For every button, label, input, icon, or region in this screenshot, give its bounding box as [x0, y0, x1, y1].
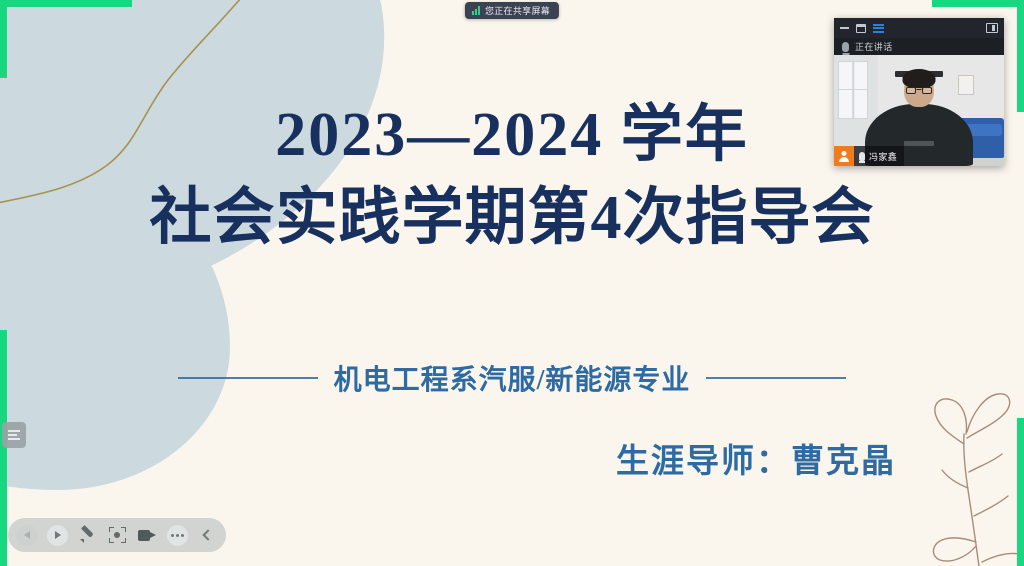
screen-share-view: 2023—2024 学年 社会实践学期第4次指导会 机电工程系汽服/新能源专业 …	[0, 0, 1024, 566]
participants-list-button[interactable]	[873, 24, 884, 33]
speaking-status-text: 正在讲话	[855, 40, 893, 53]
next-slide-button[interactable]	[46, 524, 68, 546]
layout-toggle-button[interactable]	[986, 23, 998, 33]
video-call-panel[interactable]: 正在讲话	[834, 18, 1004, 166]
video-feed[interactable]: 冯家鑫	[834, 55, 1004, 166]
triangle-right-icon	[47, 525, 68, 546]
participant-name: 冯家鑫	[869, 150, 897, 163]
minimize-button[interactable]	[840, 27, 849, 29]
more-button[interactable]	[166, 524, 188, 546]
spotlight-button[interactable]	[106, 524, 128, 546]
slide-presenter: 生涯导师：曹克晶	[616, 434, 896, 482]
annotate-button[interactable]	[76, 524, 98, 546]
restore-window-button[interactable]	[856, 24, 866, 33]
video-panel-titlebar[interactable]	[834, 18, 1004, 38]
window-shape	[838, 61, 868, 119]
list-menu-icon	[8, 430, 20, 440]
record-button[interactable]	[136, 524, 158, 546]
screen-share-banner-text: 您正在共享屏幕	[485, 4, 550, 17]
slide-subtitle: 机电工程系汽服/新能源专业	[334, 358, 691, 398]
focus-bracket-icon	[109, 527, 126, 543]
slide-subtitle-row: 机电工程系汽服/新能源专业	[0, 358, 1024, 398]
screen-share-banner[interactable]: 您正在共享屏幕	[465, 2, 559, 19]
participants-list-icon	[873, 24, 884, 33]
participant-name-badge: 冯家鑫	[834, 146, 904, 166]
signal-bars-icon	[472, 6, 480, 15]
microphone-icon	[859, 152, 865, 161]
triangle-left-icon	[17, 525, 38, 546]
pencil-icon	[79, 527, 96, 544]
presentation-toolbar[interactable]	[8, 518, 226, 552]
subtitle-rule-left	[178, 377, 318, 379]
ellipsis-icon	[167, 525, 188, 546]
subtitle-rule-right	[706, 377, 846, 379]
minimize-icon	[840, 27, 849, 29]
glasses-icon	[906, 86, 932, 94]
video-panel-status: 正在讲话	[834, 38, 1004, 55]
side-panel-icon	[986, 23, 998, 33]
chevron-left-icon	[202, 529, 213, 540]
restore-window-icon	[856, 24, 866, 33]
collapse-toolbar-button[interactable]	[196, 524, 218, 546]
slide-title-main: 社会实践学期第4次指导会	[0, 186, 1024, 251]
video-camera-icon	[138, 530, 156, 541]
microphone-icon	[842, 42, 849, 52]
wall-picture-shape	[958, 75, 974, 95]
previous-slide-button[interactable]	[16, 524, 38, 546]
user-avatar-icon	[834, 146, 854, 166]
slide-thumbnail-panel-button[interactable]	[2, 422, 26, 448]
